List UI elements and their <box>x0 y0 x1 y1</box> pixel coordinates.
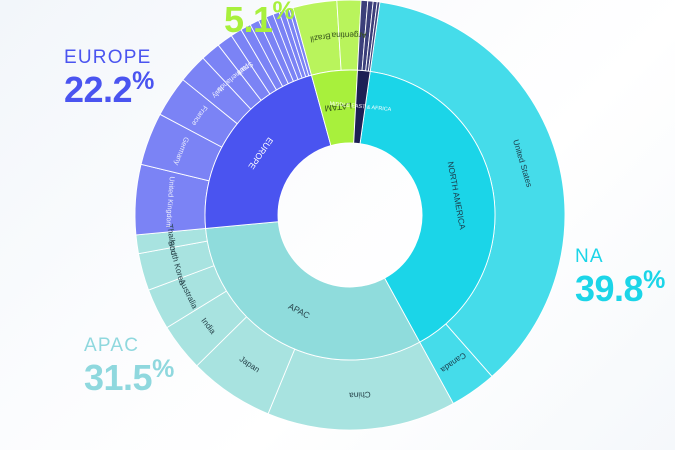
kpi-apac-label: APAC <box>84 336 174 356</box>
kpi-latam: LATAM 5.1% <box>224 0 294 39</box>
outer-label-latam-1: Argentina <box>331 30 367 39</box>
kpi-na: NA 39.8% <box>575 247 665 308</box>
inner-ring-regions <box>205 70 495 360</box>
outer-label-apac-0: China <box>349 390 371 400</box>
sunburst-chart: United StatesCanadaChinaJapanIndiaAustra… <box>0 0 675 450</box>
kpi-europe-value: 22.2% <box>64 68 154 109</box>
kpi-europe-label: EUROPE <box>64 48 154 68</box>
kpi-europe: EUROPE 22.2% <box>64 48 154 109</box>
outer-ring-countries <box>135 0 565 430</box>
kpi-apac: APAC 31.5% <box>84 336 174 397</box>
kpi-latam-value: 5.1% <box>224 0 294 39</box>
kpi-na-label: NA <box>575 247 665 267</box>
kpi-apac-value: 31.5% <box>84 356 174 397</box>
kpi-na-value: 39.8% <box>575 267 665 308</box>
